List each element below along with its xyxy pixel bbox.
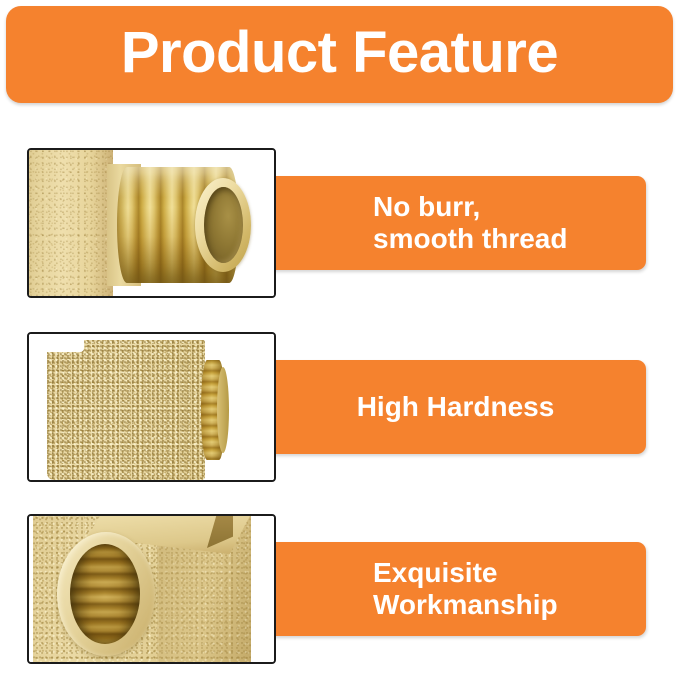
side-thread-nipple-cap (217, 367, 229, 453)
header-banner: Product Feature (6, 6, 673, 103)
photo-canvas (29, 516, 274, 662)
brass-male-threaded-nipple-photo (27, 148, 276, 298)
bore-opening (204, 187, 243, 263)
brass-textured-block-body-photo (27, 332, 276, 482)
feature-row: Exquisite Workmanship (0, 514, 679, 670)
page-title: Product Feature (121, 24, 558, 86)
feature-label-text: Exquisite Workmanship (265, 557, 558, 622)
feature-label-bar: High Hardness (265, 360, 646, 454)
feature-label-text: High Hardness (265, 391, 646, 423)
female-thread-opening (70, 544, 140, 644)
block-corner-notch (47, 340, 84, 352)
feature-row: High Hardness (0, 332, 679, 488)
brass-square-body (29, 150, 113, 296)
feature-label-text: No burr, smooth thread (265, 191, 567, 256)
photo-canvas (29, 334, 274, 480)
brass-textured-block (47, 340, 205, 480)
brass-female-threaded-elbow-photo (27, 514, 276, 664)
photo-canvas (29, 150, 274, 296)
feature-label-bar: Exquisite Workmanship (265, 542, 646, 636)
feature-label-bar: No burr, smooth thread (265, 176, 646, 270)
feature-row: No burr, smooth thread (0, 148, 679, 304)
